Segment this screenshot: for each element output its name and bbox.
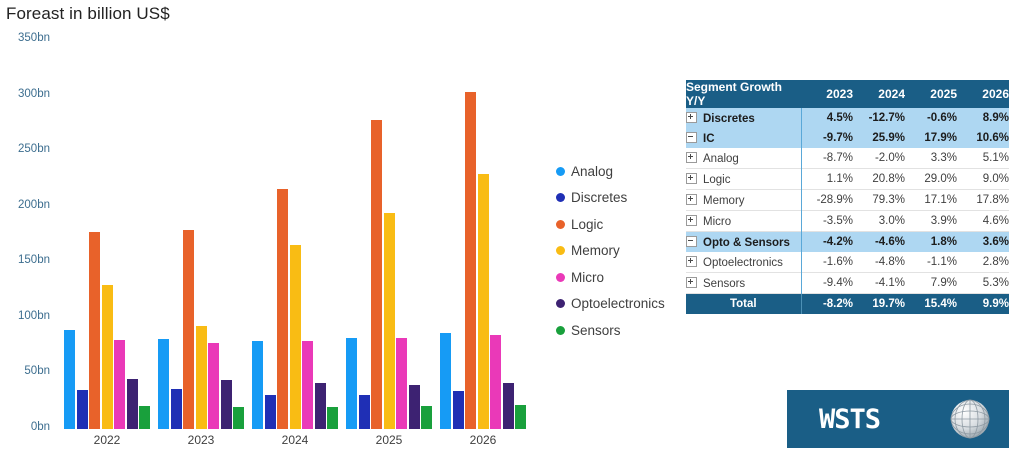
bar-group (342, 40, 436, 429)
chart-legend: AnalogDiscretesLogicMemoryMicroOptoelect… (556, 158, 665, 344)
table-row[interactable]: Discretes4.5%-12.7%-0.6%8.9% (686, 108, 1009, 128)
growth-value-cell: 5.3% (957, 273, 1009, 294)
collapse-icon[interactable] (686, 132, 697, 143)
expand-icon[interactable] (686, 215, 697, 226)
growth-value-cell: -12.7% (853, 108, 905, 128)
growth-value-cell: 20.8% (853, 169, 905, 190)
table-body: Discretes4.5%-12.7%-0.6%8.9%IC-9.7%25.9%… (686, 108, 1009, 314)
table-row[interactable]: Total-8.2%19.7%15.4%9.9% (686, 294, 1009, 315)
table-row[interactable]: IC-9.7%25.9%17.9%10.6% (686, 128, 1009, 148)
table-row[interactable]: Micro-3.5%3.0%3.9%4.6% (686, 211, 1009, 232)
legend-swatch-icon (556, 220, 565, 229)
legend-label: Memory (571, 243, 620, 258)
expand-icon[interactable] (686, 112, 697, 123)
bar-group (60, 40, 154, 429)
expand-icon[interactable] (686, 277, 697, 288)
bar-chart: 350bn300bn250bn200bn150bn100bn50bn0bn 20… (0, 0, 545, 453)
legend-swatch-icon (556, 193, 565, 202)
expand-icon[interactable] (686, 194, 697, 205)
growth-value-cell: 1.8% (905, 232, 957, 253)
bar-group (154, 40, 248, 429)
growth-value-cell: 17.8% (957, 190, 1009, 211)
legend-swatch-icon (556, 273, 565, 282)
bar-sensors (515, 405, 526, 429)
header-year-2: 2025 (905, 80, 957, 108)
segment-label: Total (730, 298, 757, 310)
legend-item[interactable]: Micro (556, 264, 665, 291)
bar-micro (114, 340, 125, 429)
segment-label: Micro (703, 216, 731, 228)
globe-icon (949, 398, 991, 440)
segment-label: Analog (703, 153, 739, 165)
legend-swatch-icon (556, 167, 565, 176)
growth-value-cell: 4.5% (801, 108, 853, 128)
bar-analog (252, 341, 263, 429)
growth-value-cell: -9.7% (801, 128, 853, 148)
legend-label: Sensors (571, 323, 621, 338)
growth-value-cell: 29.0% (905, 169, 957, 190)
bar-logic (89, 232, 100, 429)
growth-value-cell: 17.1% (905, 190, 957, 211)
segment-name-cell: Discretes (686, 108, 801, 128)
table-row[interactable]: Sensors-9.4%-4.1%7.9%5.3% (686, 273, 1009, 294)
bar-micro (396, 338, 407, 429)
bar-group (436, 40, 530, 429)
bar-analog (64, 330, 75, 429)
segment-label: Sensors (703, 278, 745, 290)
segment-label: Memory (703, 195, 745, 207)
bar-sensors (139, 406, 150, 429)
segment-name-cell: IC (686, 128, 801, 148)
bar-discretes (171, 389, 182, 429)
bar-optoelectronics (127, 379, 138, 429)
bar-discretes (453, 391, 464, 429)
bar-logic (465, 92, 476, 429)
segment-label: Optoelectronics (703, 257, 783, 269)
table-row[interactable]: Optoelectronics-1.6%-4.8%-1.1%2.8% (686, 252, 1009, 273)
bar-optoelectronics (221, 380, 232, 429)
bar-discretes (265, 395, 276, 429)
segment-name-cell: Memory (686, 190, 801, 211)
bar-memory (478, 174, 489, 429)
bar-logic (183, 230, 194, 429)
header-year-3: 2026 (957, 80, 1009, 108)
legend-swatch-icon (556, 299, 565, 308)
x-axis-tick: 2023 (156, 433, 246, 447)
segment-name-cell: Analog (686, 148, 801, 169)
bar-logic (277, 189, 288, 429)
bar-discretes (77, 390, 88, 429)
growth-value-cell: -4.6% (853, 232, 905, 253)
bar-group (248, 40, 342, 429)
growth-value-cell: 25.9% (853, 128, 905, 148)
bar-discretes (359, 395, 370, 429)
x-axis-tick: 2025 (344, 433, 434, 447)
growth-value-cell: -1.6% (801, 252, 853, 273)
table-row[interactable]: Logic1.1%20.8%29.0%9.0% (686, 169, 1009, 190)
growth-value-cell: 8.9% (957, 108, 1009, 128)
bar-sensors (327, 407, 338, 429)
growth-value-cell: -4.1% (853, 273, 905, 294)
header-year-1: 2024 (853, 80, 905, 108)
segment-name-cell: Opto & Sensors (686, 232, 801, 253)
segment-growth-table: Segment Growth Y/Y 2023 2024 2025 2026 D… (686, 80, 1009, 314)
growth-value-cell: 9.9% (957, 294, 1009, 315)
y-axis-tick: 0bn (6, 421, 50, 433)
plot-area (60, 40, 530, 429)
bar-memory (384, 213, 395, 429)
wsts-logo: WSTS (787, 390, 1009, 448)
legend-swatch-icon (556, 246, 565, 255)
growth-value-cell: -9.4% (801, 273, 853, 294)
growth-value-cell: 7.9% (905, 273, 957, 294)
collapse-icon[interactable] (686, 236, 697, 247)
growth-value-cell: 4.6% (957, 211, 1009, 232)
bar-optoelectronics (315, 383, 326, 429)
y-axis-tick: 300bn (6, 88, 50, 100)
expand-icon[interactable] (686, 152, 697, 163)
growth-value-cell: 1.1% (801, 169, 853, 190)
legend-label: Optoelectronics (571, 296, 665, 311)
legend-item[interactable]: Analog (556, 158, 665, 185)
growth-value-cell: 79.3% (853, 190, 905, 211)
y-axis-tick: 150bn (6, 254, 50, 266)
legend-item[interactable]: Logic (556, 211, 665, 238)
growth-value-cell: -0.6% (905, 108, 957, 128)
legend-label: Analog (571, 164, 613, 179)
table-row[interactable]: Memory-28.9%79.3%17.1%17.8% (686, 190, 1009, 211)
expand-icon[interactable] (686, 173, 697, 184)
legend-item[interactable]: Sensors (556, 317, 665, 344)
header-year-0: 2023 (801, 80, 853, 108)
segment-label: Discretes (703, 113, 755, 125)
growth-value-cell: 3.0% (853, 211, 905, 232)
segment-label: Logic (703, 174, 731, 186)
x-axis-tick: 2022 (62, 433, 152, 447)
bar-memory (290, 245, 301, 429)
growth-value-cell: -2.0% (853, 148, 905, 169)
legend-label: Micro (571, 270, 604, 285)
growth-value-cell: 3.3% (905, 148, 957, 169)
growth-value-cell: -3.5% (801, 211, 853, 232)
y-axis-tick: 100bn (6, 310, 50, 322)
bar-logic (371, 120, 382, 429)
growth-value-cell: -28.9% (801, 190, 853, 211)
bar-optoelectronics (409, 385, 420, 429)
bar-optoelectronics (503, 383, 514, 429)
bar-sensors (421, 406, 432, 429)
expand-icon[interactable] (686, 256, 697, 267)
bar-sensors (233, 407, 244, 429)
segment-name-cell: Optoelectronics (686, 252, 801, 273)
growth-value-cell: 3.9% (905, 211, 957, 232)
segment-name-cell: Sensors (686, 273, 801, 294)
growth-value-cell: 10.6% (957, 128, 1009, 148)
y-axis-tick: 250bn (6, 143, 50, 155)
bar-analog (440, 333, 451, 429)
bar-memory (102, 285, 113, 429)
segment-label: IC (703, 133, 715, 145)
bar-memory (196, 326, 207, 429)
growth-value-cell: 3.6% (957, 232, 1009, 253)
legend-label: Discretes (571, 190, 627, 205)
wsts-wordmark: WSTS (819, 404, 880, 435)
growth-value-cell: 9.0% (957, 169, 1009, 190)
table-header-row: Segment Growth Y/Y 2023 2024 2025 2026 (686, 80, 1009, 108)
segment-name-cell: Total (686, 294, 801, 315)
y-axis-tick: 200bn (6, 199, 50, 211)
growth-value-cell: -8.2% (801, 294, 853, 315)
y-axis-tick: 50bn (6, 365, 50, 377)
growth-value-cell: -8.7% (801, 148, 853, 169)
table-header: Segment Growth Y/Y 2023 2024 2025 2026 (686, 80, 1009, 108)
legend-item[interactable]: Optoelectronics (556, 291, 665, 318)
growth-value-cell: 17.9% (905, 128, 957, 148)
growth-value-cell: -1.1% (905, 252, 957, 273)
table-row[interactable]: Analog-8.7%-2.0%3.3%5.1% (686, 148, 1009, 169)
segment-name-cell: Logic (686, 169, 801, 190)
growth-value-cell: -4.8% (853, 252, 905, 273)
growth-value-cell: 5.1% (957, 148, 1009, 169)
bar-micro (302, 341, 313, 429)
x-axis-tick: 2024 (250, 433, 340, 447)
legend-item[interactable]: Discretes (556, 185, 665, 212)
bar-micro (490, 335, 501, 429)
legend-item[interactable]: Memory (556, 238, 665, 265)
growth-value-cell: 19.7% (853, 294, 905, 315)
header-segment-name: Segment Growth Y/Y (686, 80, 801, 108)
legend-label: Logic (571, 217, 603, 232)
growth-value-cell: 15.4% (905, 294, 957, 315)
segment-name-cell: Micro (686, 211, 801, 232)
y-axis-tick: 350bn (6, 32, 50, 44)
bar-analog (346, 338, 357, 429)
bar-micro (208, 343, 219, 429)
legend-swatch-icon (556, 326, 565, 335)
growth-value-cell: -4.2% (801, 232, 853, 253)
x-axis-tick: 2026 (438, 433, 528, 447)
segment-label: Opto & Sensors (703, 237, 790, 249)
growth-value-cell: 2.8% (957, 252, 1009, 273)
table-row[interactable]: Opto & Sensors-4.2%-4.6%1.8%3.6% (686, 232, 1009, 253)
bar-analog (158, 339, 169, 429)
